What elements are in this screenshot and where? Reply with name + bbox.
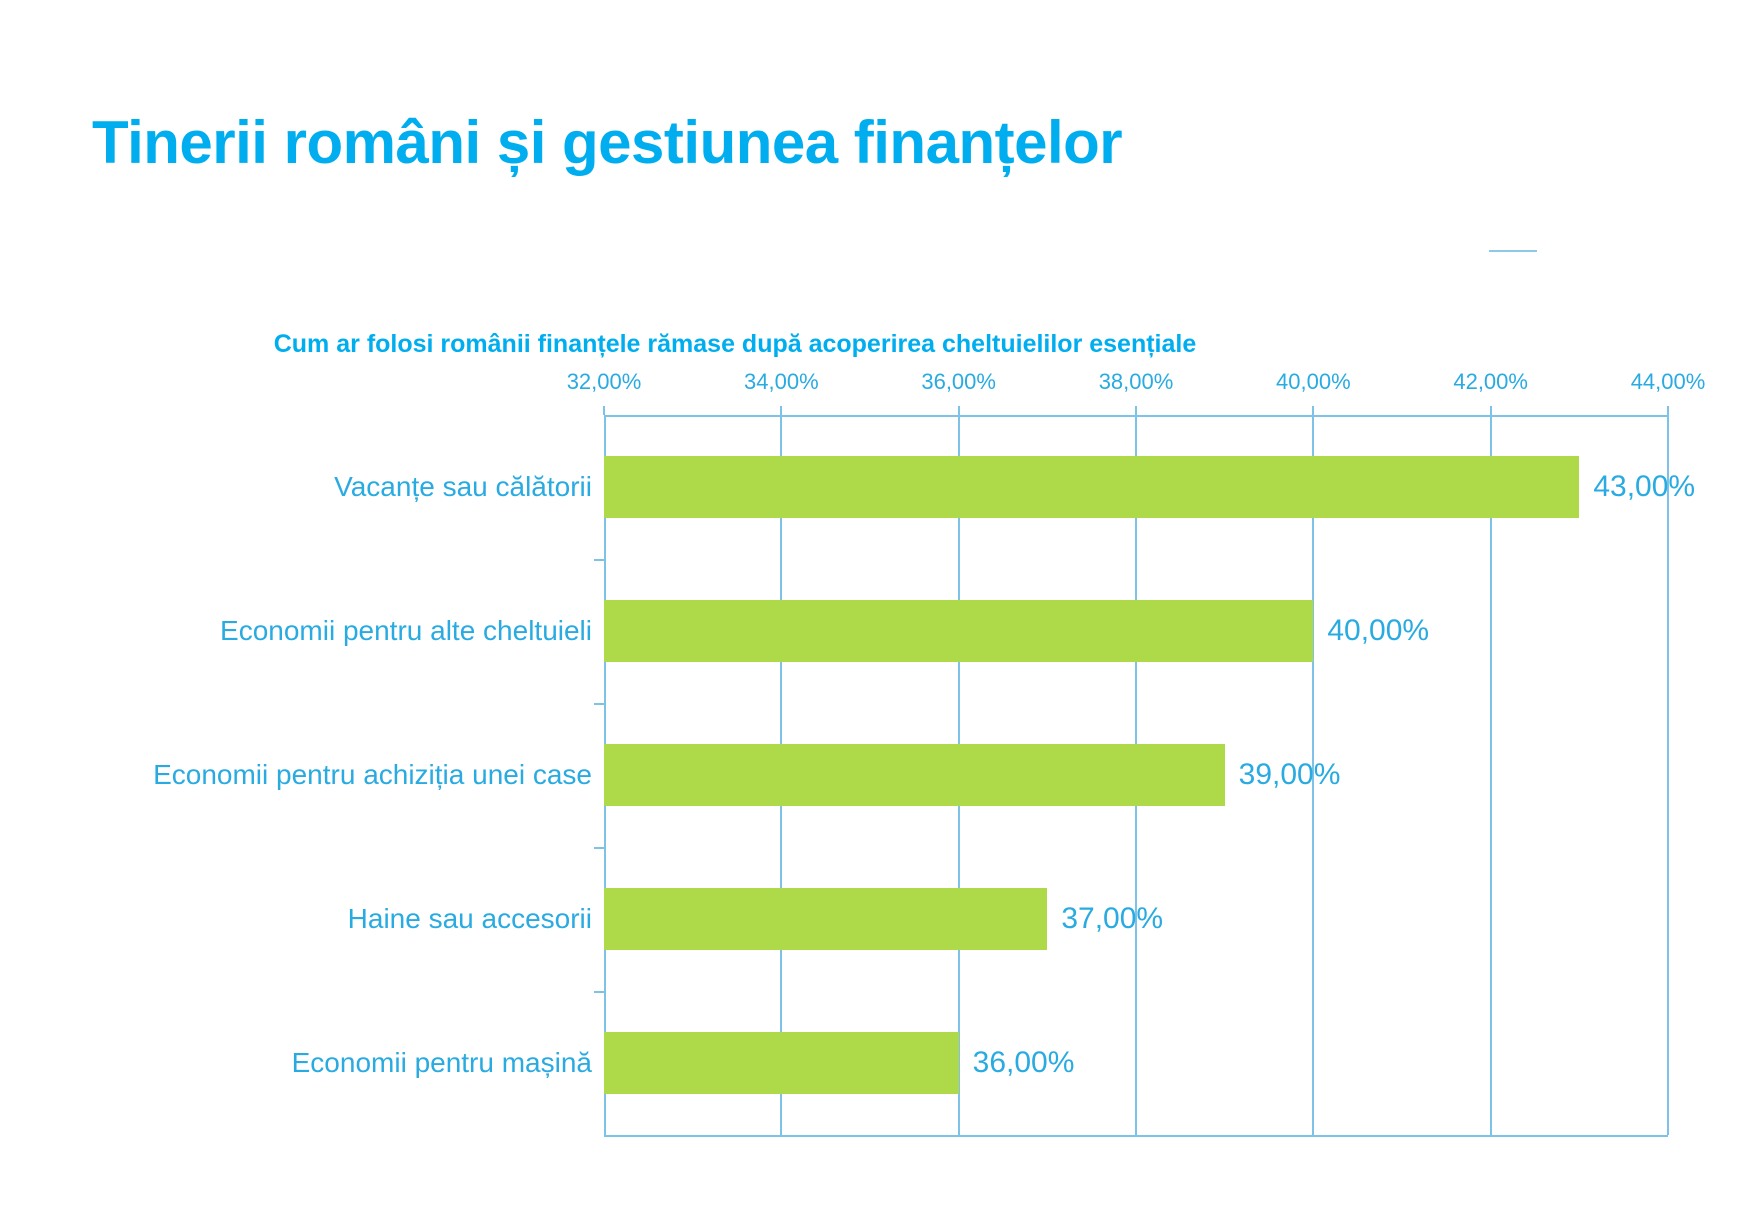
bar[interactable] (604, 600, 1313, 662)
x-tick-mark (958, 406, 960, 415)
page-title: Tinerii români și gestiunea finanțelor (92, 108, 1122, 177)
bar[interactable] (604, 744, 1225, 806)
x-tick-mark (1312, 406, 1314, 415)
plot-bottom-line (604, 1135, 1668, 1137)
category-label: Economii pentru mașină (292, 1032, 592, 1094)
bar-value-label: 39,00% (1239, 744, 1341, 806)
bar-row: Economii pentru alte cheltuieli40,00% (604, 600, 1668, 662)
y-tick-mark (594, 559, 604, 561)
bar-value-label: 37,00% (1061, 888, 1163, 950)
bar-chart: Cum ar folosi românii finanțele rămase d… (0, 330, 1757, 1160)
x-tick-label: 36,00% (921, 369, 996, 395)
bar-row: Economii pentru mașină36,00% (604, 1032, 1668, 1094)
plot-area: 32,00%34,00%36,00%38,00%40,00%42,00%44,0… (604, 415, 1668, 1135)
bar-row: Haine sau accesorii37,00% (604, 888, 1668, 950)
x-tick-mark (780, 406, 782, 415)
bar-value-label: 43,00% (1593, 456, 1695, 518)
bar-row: Economii pentru achiziția unei case39,00… (604, 744, 1668, 806)
x-tick-label: 42,00% (1453, 369, 1528, 395)
bar[interactable] (604, 1032, 959, 1094)
bar-row: Vacanțe sau călătorii43,00% (604, 456, 1668, 518)
y-tick-mark (594, 991, 604, 993)
x-tick-mark (1490, 406, 1492, 415)
bar-value-label: 40,00% (1327, 600, 1429, 662)
bar[interactable] (604, 456, 1579, 518)
category-label: Economii pentru achiziția unei case (153, 744, 592, 806)
x-tick-label: 34,00% (744, 369, 819, 395)
x-tick-label: 38,00% (1099, 369, 1174, 395)
x-tick-mark (603, 406, 605, 415)
x-tick-mark (1667, 406, 1669, 415)
category-label: Economii pentru alte cheltuieli (220, 600, 592, 662)
decorative-rule (1489, 250, 1537, 252)
x-tick-label: 40,00% (1276, 369, 1351, 395)
x-tick-mark (1135, 406, 1137, 415)
y-tick-mark (594, 847, 604, 849)
slide-canvas: Tinerii români și gestiunea finanțelor C… (0, 0, 1757, 1232)
category-label: Vacanțe sau călătorii (334, 456, 592, 518)
y-tick-mark (594, 703, 604, 705)
x-tick-label: 44,00% (1631, 369, 1706, 395)
category-label: Haine sau accesorii (348, 888, 592, 950)
bar-value-label: 36,00% (973, 1032, 1075, 1094)
bar[interactable] (604, 888, 1047, 950)
x-tick-label: 32,00% (567, 369, 642, 395)
chart-title: Cum ar folosi românii finanțele rămase d… (0, 330, 1470, 359)
